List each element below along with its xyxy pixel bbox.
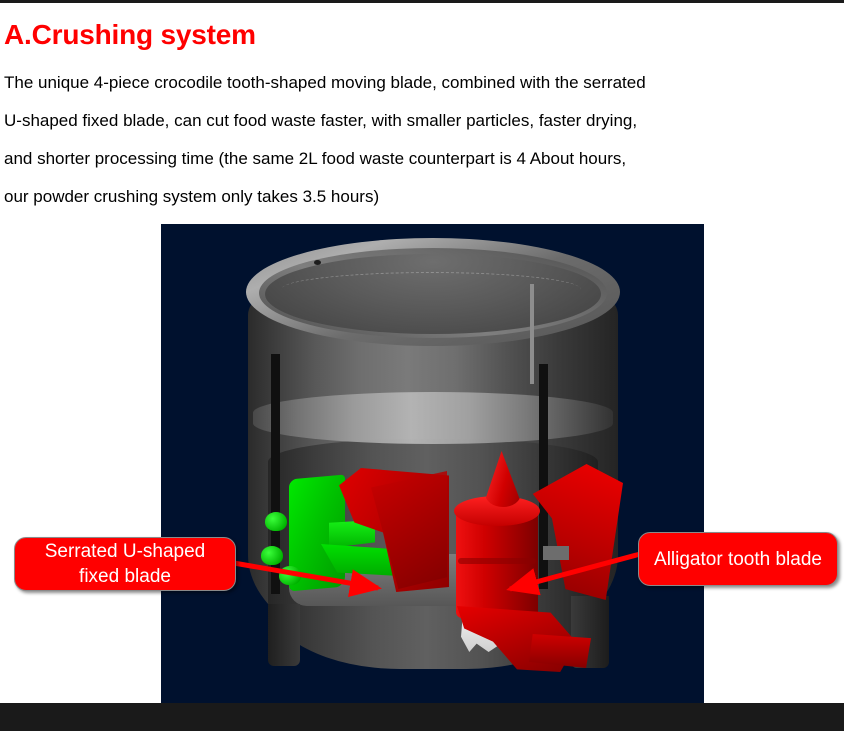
body-line-3: and shorter processing time (the same 2L…	[4, 140, 824, 178]
bowl-leg-left	[268, 604, 300, 666]
grinding-bowl-band	[253, 392, 613, 444]
fixed-blade-tooth-3	[279, 566, 301, 585]
callout-fixed-blade[interactable]: Serrated U-shaped fixed blade	[14, 537, 236, 591]
bottom-edge-strip	[0, 703, 844, 731]
body-paragraph: The unique 4-piece crocodile tooth-shape…	[4, 64, 824, 216]
bowl-inner-seam	[281, 272, 581, 307]
body-line-1: The unique 4-piece crocodile tooth-shape…	[4, 64, 824, 102]
moving-blade-groove	[458, 558, 536, 564]
page-title: A.Crushing system	[4, 18, 256, 52]
crusher-assembly-illustration	[161, 224, 704, 703]
bowl-inner-post	[530, 284, 534, 384]
body-line-4: our powder crushing system only takes 3.…	[4, 178, 824, 216]
body-line-2: U-shaped fixed blade, can cut food waste…	[4, 102, 824, 140]
callout-moving-blade[interactable]: Alligator tooth blade	[638, 532, 838, 586]
bowl-rim-hole	[314, 260, 321, 265]
fixed-blade-tooth-1	[265, 512, 287, 531]
moving-blade-notch	[543, 546, 569, 560]
product-render-panel	[161, 224, 704, 703]
fixed-blade-tooth-2	[261, 546, 283, 565]
top-edge-strip	[0, 0, 844, 3]
